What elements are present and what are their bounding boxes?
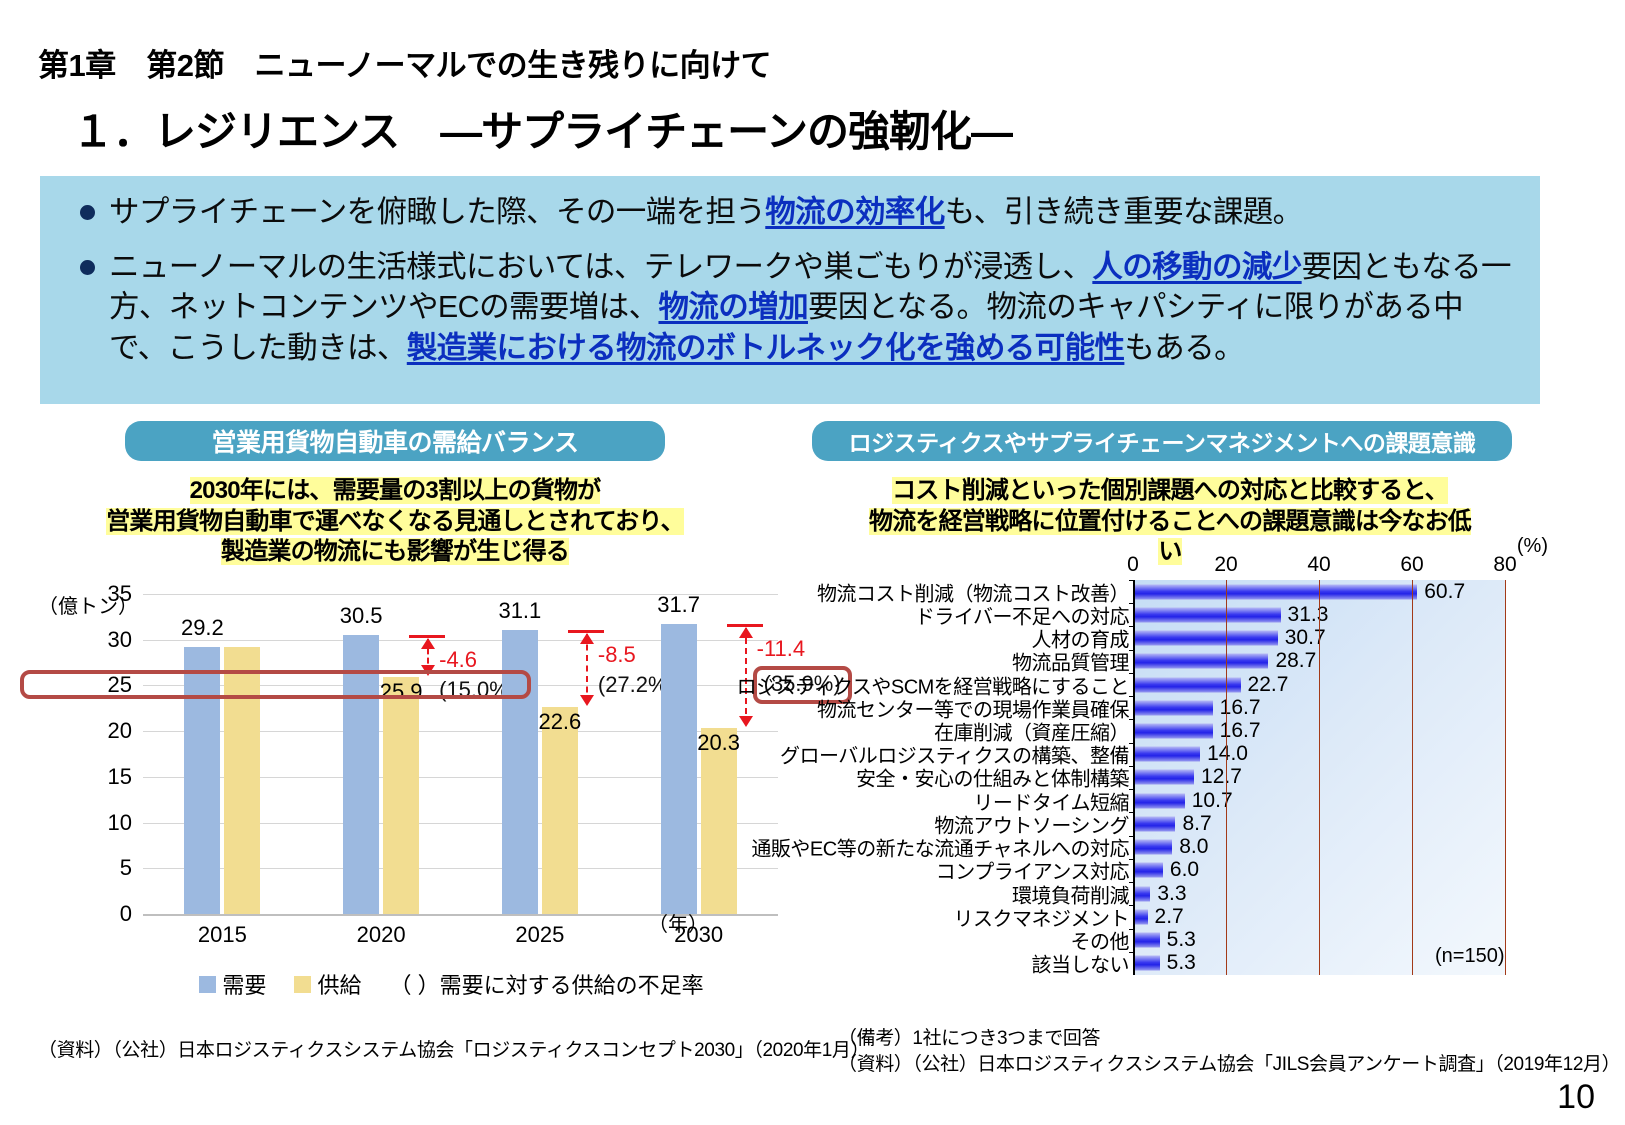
right-subhead-line: コスト削減といった個別課題への対応と比較すると、 bbox=[860, 476, 1480, 507]
bar-value-supply: 25.9 bbox=[380, 679, 423, 705]
y-axis-tick-label: 5 bbox=[72, 855, 132, 881]
list-item: 人材の育成30.7 bbox=[1135, 626, 1505, 649]
bar-value-demand: 31.1 bbox=[498, 598, 541, 624]
bullet-dot-icon bbox=[80, 260, 95, 275]
left-chart-source: （資料）（公社）日本ロジスティクスシステム協会「ロジスティクスコンセプト2030… bbox=[38, 1038, 869, 1064]
axis-tickmark bbox=[1129, 882, 1135, 883]
list-item: 物流品質管理28.7 bbox=[1135, 650, 1505, 673]
bar-demand bbox=[502, 630, 538, 914]
plain-text: サプライチェーンを俯瞰した際、その一端を担う bbox=[109, 195, 765, 229]
left-subhead-text: 2030年には、需要量の3割以上の貨物が bbox=[190, 477, 601, 504]
gap-arrow-up-icon bbox=[421, 638, 435, 649]
sample-size-label: (n=150) bbox=[1435, 945, 1505, 968]
summary-callout: サプライチェーンを俯瞰した際、その一端を担う物流の効率化も、引き続き重要な課題。… bbox=[40, 176, 1540, 404]
axis-tickmark bbox=[1129, 766, 1135, 767]
gap-value-label: -4.6 bbox=[439, 647, 477, 673]
horizontal-bar bbox=[1135, 631, 1278, 646]
plain-text: も、引き続き重要な課題。 bbox=[945, 195, 1303, 229]
axis-tickmark bbox=[1129, 580, 1135, 581]
bar-value-label: 12.7 bbox=[1201, 765, 1242, 789]
bar-value-label: 5.3 bbox=[1167, 928, 1196, 952]
list-item: コンプライアンス対応6.0 bbox=[1135, 859, 1505, 882]
left-subhead-line: 2030年には、需要量の3割以上の貨物が bbox=[95, 476, 695, 507]
axis-tickmark bbox=[1129, 812, 1135, 813]
axis-tickmark bbox=[1129, 650, 1135, 651]
right-gridline bbox=[1226, 580, 1227, 975]
x-axis-tick-label: 2025 bbox=[515, 922, 564, 948]
left-panel-subhead: 2030年には、需要量の3割以上の貨物が営業用貨物自動車で運べなくなる見通しとさ… bbox=[95, 476, 695, 568]
y-axis-tick-label: 35 bbox=[72, 581, 132, 607]
bar-value-label: 8.7 bbox=[1182, 812, 1211, 836]
horizontal-bar bbox=[1135, 747, 1200, 762]
bar-value-label: 8.0 bbox=[1179, 835, 1208, 859]
list-item: リスクマネジメント2.7 bbox=[1135, 905, 1505, 928]
right-gridline bbox=[1319, 580, 1320, 975]
y-axis-tick-label: 10 bbox=[72, 810, 132, 836]
bar-value-label: 60.7 bbox=[1424, 580, 1465, 604]
bar-demand bbox=[343, 635, 379, 914]
gap-arrow-down-icon bbox=[739, 716, 753, 727]
horizontal-bar bbox=[1135, 863, 1163, 878]
supply-demand-bar-chart: （億トン） 0510152025303529.229.2201530.525.9… bbox=[30, 578, 790, 998]
x-axis-unit: （年） bbox=[648, 908, 708, 937]
axis-tickmark bbox=[1129, 626, 1135, 627]
scm-issue-bar-chart: (%) 物流コスト削減（物流コスト改善）60.7ドライバー不足への対応31.3人… bbox=[800, 535, 1600, 1005]
legend-item: （ ）需要に対する供給の不足率 bbox=[389, 968, 703, 1000]
left-subhead-text: 製造業の物流にも影響が生じ得る bbox=[221, 538, 569, 565]
legend-item: 需要 bbox=[199, 968, 266, 1000]
bar-supply bbox=[542, 707, 578, 914]
right-x-tick-label: 0 bbox=[1127, 553, 1139, 577]
list-item: 物流センター等での現場作業員確保16.7 bbox=[1135, 696, 1505, 719]
horizontal-bar bbox=[1135, 677, 1241, 692]
list-item: リードタイム短縮10.7 bbox=[1135, 789, 1505, 812]
right-subhead-text: コスト削減といった個別課題への対応と比較すると、 bbox=[892, 477, 1448, 504]
plain-text: ニューノーマルの生活様式においては、テレワークや巣ごもりが浸透し、 bbox=[109, 250, 1092, 284]
list-item: 物流アウトソーシング8.7 bbox=[1135, 812, 1505, 835]
axis-tickmark bbox=[1129, 696, 1135, 697]
horizontal-bar bbox=[1135, 886, 1150, 901]
callout-bullet-text: ニューノーマルの生活様式においては、テレワークや巣ごもりが浸透し、人の移動の減少… bbox=[109, 247, 1514, 369]
axis-tickmark bbox=[1129, 789, 1135, 790]
right-x-tick-label: 80 bbox=[1493, 553, 1516, 577]
gap-value-label: -11.4 bbox=[757, 636, 806, 662]
bar-value-label: 14.0 bbox=[1207, 742, 1248, 766]
axis-tickmark bbox=[1129, 673, 1135, 674]
list-item: 物流コスト削減（物流コスト改善）60.7 bbox=[1135, 580, 1505, 603]
left-panel-header: 営業用貨物自動車の需給バランス bbox=[125, 421, 665, 461]
bullet-dot-icon bbox=[80, 205, 95, 220]
bar-value-demand: 30.5 bbox=[340, 603, 383, 629]
bar-value-label: 3.3 bbox=[1157, 882, 1186, 906]
highlight-phrase: 物流の増加 bbox=[658, 290, 808, 324]
x-axis-tick-label: 2015 bbox=[198, 922, 247, 948]
bar-value-label: 5.3 bbox=[1167, 951, 1196, 975]
horizontal-bar bbox=[1135, 933, 1160, 948]
horizontal-bar bbox=[1135, 770, 1194, 785]
right-panel-header: ロジスティクスやサプライチェーンマネジメントへの課題意識 bbox=[812, 421, 1512, 461]
list-item: 通販やEC等の新たな流通チャネルへの対応8.0 bbox=[1135, 836, 1505, 859]
x-axis-tick-label: 2020 bbox=[357, 922, 406, 948]
bar-value-demand: 31.7 bbox=[657, 592, 700, 618]
left-chart-legend: 需要供給（ ）需要に対する供給の不足率 bbox=[143, 968, 778, 1000]
page-title: １．レジリエンス —サプライチェーンの強靭化— bbox=[72, 98, 1012, 159]
left-subhead-line: 営業用貨物自動車で運べなくなる見通しとされており、 bbox=[95, 507, 695, 538]
right-gridline bbox=[1505, 580, 1506, 975]
legend-swatch-icon bbox=[199, 976, 216, 993]
left-subhead-text: 営業用貨物自動車で運べなくなる見通しとされており、 bbox=[106, 508, 684, 535]
axis-tickmark bbox=[1129, 719, 1135, 720]
axis-tickmark bbox=[1129, 905, 1135, 906]
gap-arrow-down-icon bbox=[421, 665, 435, 676]
bar-supply bbox=[224, 647, 260, 914]
bar-value-label: 22.7 bbox=[1248, 673, 1289, 697]
y-axis-tick-label: 30 bbox=[72, 627, 132, 653]
gap-value-label: -8.5 bbox=[598, 642, 636, 668]
right-gridline bbox=[1412, 580, 1413, 975]
axis-tickmark bbox=[1129, 743, 1135, 744]
legend-item: 供給 bbox=[294, 968, 361, 1000]
horizontal-bar bbox=[1135, 956, 1160, 971]
legend-label: （ ）需要に対する供給の不足率 bbox=[389, 968, 703, 1000]
callout-bullet: ニューノーマルの生活様式においては、テレワークや巣ごもりが浸透し、人の移動の減少… bbox=[66, 247, 1514, 369]
y-axis-tick-label: 15 bbox=[72, 764, 132, 790]
y-axis-tick-label: 25 bbox=[72, 672, 132, 698]
list-item: 在庫削減（資産圧縮）16.7 bbox=[1135, 719, 1505, 742]
highlight-phrase: 物流の効率化 bbox=[765, 195, 944, 229]
bar-value-supply: 22.6 bbox=[538, 709, 581, 735]
list-item: グローバルロジスティクスの構築、整備14.0 bbox=[1135, 743, 1505, 766]
slide: 第1章 第2節 ニューノーマルでの生き残りに向けて １．レジリエンス —サプライ… bbox=[0, 0, 1625, 1125]
highlight-phrase: 人の移動の減少 bbox=[1092, 250, 1301, 284]
gap-arrow-up-icon bbox=[580, 633, 594, 644]
list-item: ドライバー不足への対応31.3 bbox=[1135, 603, 1505, 626]
horizontal-bar bbox=[1135, 724, 1213, 739]
list-item: 環境負荷削減3.3 bbox=[1135, 882, 1505, 905]
bar-demand bbox=[184, 647, 220, 914]
category-label: 該当しない bbox=[1032, 949, 1130, 978]
right-chart-source: （備考）1社につき3つまで回答 （資料）（公社）日本ロジスティクスシステム協会「… bbox=[838, 1026, 1620, 1077]
page-number: 10 bbox=[1557, 1078, 1595, 1117]
gap-dashed-line bbox=[586, 634, 588, 704]
legend-label: 供給 bbox=[317, 968, 361, 1000]
legend-swatch-icon bbox=[294, 976, 311, 993]
bar-value-label: 2.7 bbox=[1155, 905, 1184, 929]
gap-arrow-up-icon bbox=[739, 627, 753, 638]
y-axis-tick-label: 0 bbox=[72, 901, 132, 927]
list-item: 安全・安心の仕組みと体制構築12.7 bbox=[1135, 766, 1505, 789]
horizontal-bar bbox=[1135, 793, 1185, 808]
horizontal-bar bbox=[1135, 700, 1213, 715]
horizontal-bar bbox=[1135, 654, 1268, 669]
list-item: ロジスティクスやSCMを経営戦略にすること22.7 bbox=[1135, 673, 1505, 696]
highlight-phrase: 製造業における物流のボトルネック化を強める可能性 bbox=[407, 331, 1125, 365]
right-x-tick-label: 20 bbox=[1214, 553, 1237, 577]
callout-bullet-text: サプライチェーンを俯瞰した際、その一端を担う物流の効率化も、引き続き重要な課題。 bbox=[109, 192, 1303, 233]
bar-value-label: 31.3 bbox=[1288, 603, 1329, 627]
axis-tickmark bbox=[1129, 836, 1135, 837]
horizontal-bar bbox=[1135, 816, 1175, 831]
axis-tickmark bbox=[1129, 952, 1135, 953]
callout-bullet: サプライチェーンを俯瞰した際、その一端を担う物流の効率化も、引き続き重要な課題。 bbox=[66, 192, 1514, 233]
bar-value-demand: 29.2 bbox=[181, 615, 224, 641]
legend-label: 需要 bbox=[222, 968, 266, 1000]
gap-arrow-down-icon bbox=[580, 695, 594, 706]
axis-tickmark bbox=[1129, 859, 1135, 860]
bar-value-label: 6.0 bbox=[1170, 858, 1199, 882]
left-plot-area: 0510152025303529.229.2201530.525.92020-4… bbox=[143, 594, 778, 914]
horizontal-bar bbox=[1135, 909, 1148, 924]
left-subhead-line: 製造業の物流にも影響が生じ得る bbox=[95, 537, 695, 568]
bar-demand bbox=[661, 624, 697, 914]
axis-tickmark bbox=[1129, 929, 1135, 930]
right-axis-unit: (%) bbox=[1517, 535, 1548, 558]
bar-value-supply: 20.3 bbox=[697, 730, 740, 756]
bar-supply bbox=[383, 677, 419, 914]
bar-value-label: 28.7 bbox=[1275, 649, 1316, 673]
plain-text: もある。 bbox=[1124, 331, 1244, 365]
axis-tickmark bbox=[1129, 603, 1135, 604]
horizontal-bar bbox=[1135, 607, 1281, 622]
chapter-subtitle: 第1章 第2節 ニューノーマルでの生き残りに向けて bbox=[38, 40, 771, 85]
horizontal-bar bbox=[1135, 584, 1417, 599]
horizontal-bar bbox=[1135, 840, 1172, 855]
right-x-tick-label: 40 bbox=[1307, 553, 1330, 577]
right-x-tick-label: 60 bbox=[1400, 553, 1423, 577]
y-axis-tick-label: 20 bbox=[72, 718, 132, 744]
